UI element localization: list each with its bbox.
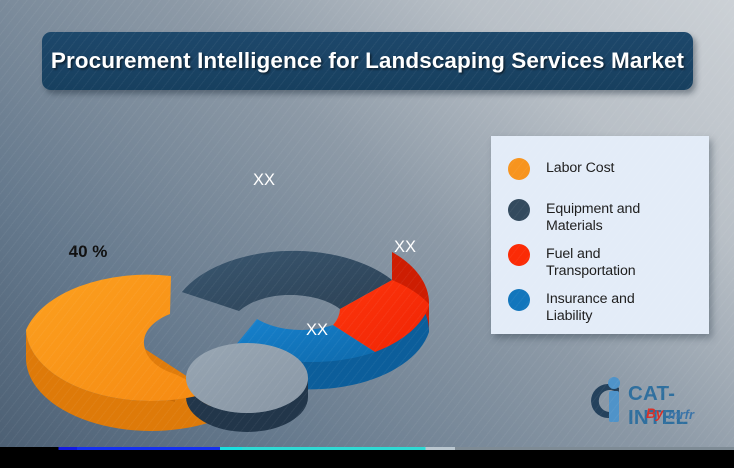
slice-label-equipment-and-materials: XX <box>253 171 275 189</box>
legend-item-labor-cost[interactable]: Labor Cost <box>508 158 614 180</box>
slide-canvas: Procurement Intelligence for Landscaping… <box>0 0 734 468</box>
page-title: Procurement Intelligence for Landscaping… <box>51 48 684 74</box>
legend-swatch-insurance-and-liability <box>508 289 530 311</box>
legend-swatch-equipment-and-materials <box>508 199 530 221</box>
logo-brand-text: mrfr <box>668 407 694 422</box>
legend-label-equipment-and-materials: Equipment and Materials <box>546 199 640 234</box>
legend-label-fuel-and-transportation: Fuel and Transportation <box>546 244 636 279</box>
legend-item-fuel-and-transportation[interactable]: Fuel and Transportation <box>508 244 636 279</box>
legend-swatch-labor-cost <box>508 158 530 180</box>
legend-label-insurance-and-liability: Insurance and Liability <box>546 289 635 324</box>
slice-label-labor-cost: 40 % <box>69 242 108 261</box>
slice-label-fuel-and-transportation: XX <box>394 238 416 256</box>
legend-item-equipment-and-materials[interactable]: Equipment and Materials <box>508 199 640 234</box>
legend-label-labor-cost: Labor Cost <box>546 158 614 177</box>
bottom-band <box>0 450 734 468</box>
logo-wordmark: CAT-INTEL <box>628 382 718 430</box>
chart-legend: Labor Cost Equipment and Materials Fuel … <box>491 136 709 334</box>
legend-item-insurance-and-liability[interactable]: Insurance and Liability <box>508 289 635 324</box>
brand-logo: CAT-INTEL By mrfr <box>586 374 718 434</box>
donut-hole <box>186 343 308 413</box>
donut-chart: 40 % XX XX XX <box>0 120 462 440</box>
legend-swatch-fuel-and-transportation <box>508 244 530 266</box>
logo-by-text: By <box>646 406 663 421</box>
slide-background: Procurement Intelligence for Landscaping… <box>0 0 734 447</box>
cat-intel-mark-icon <box>586 376 634 426</box>
title-banner: Procurement Intelligence for Landscaping… <box>42 32 693 90</box>
slice-label-insurance-and-liability: XX <box>306 321 328 339</box>
